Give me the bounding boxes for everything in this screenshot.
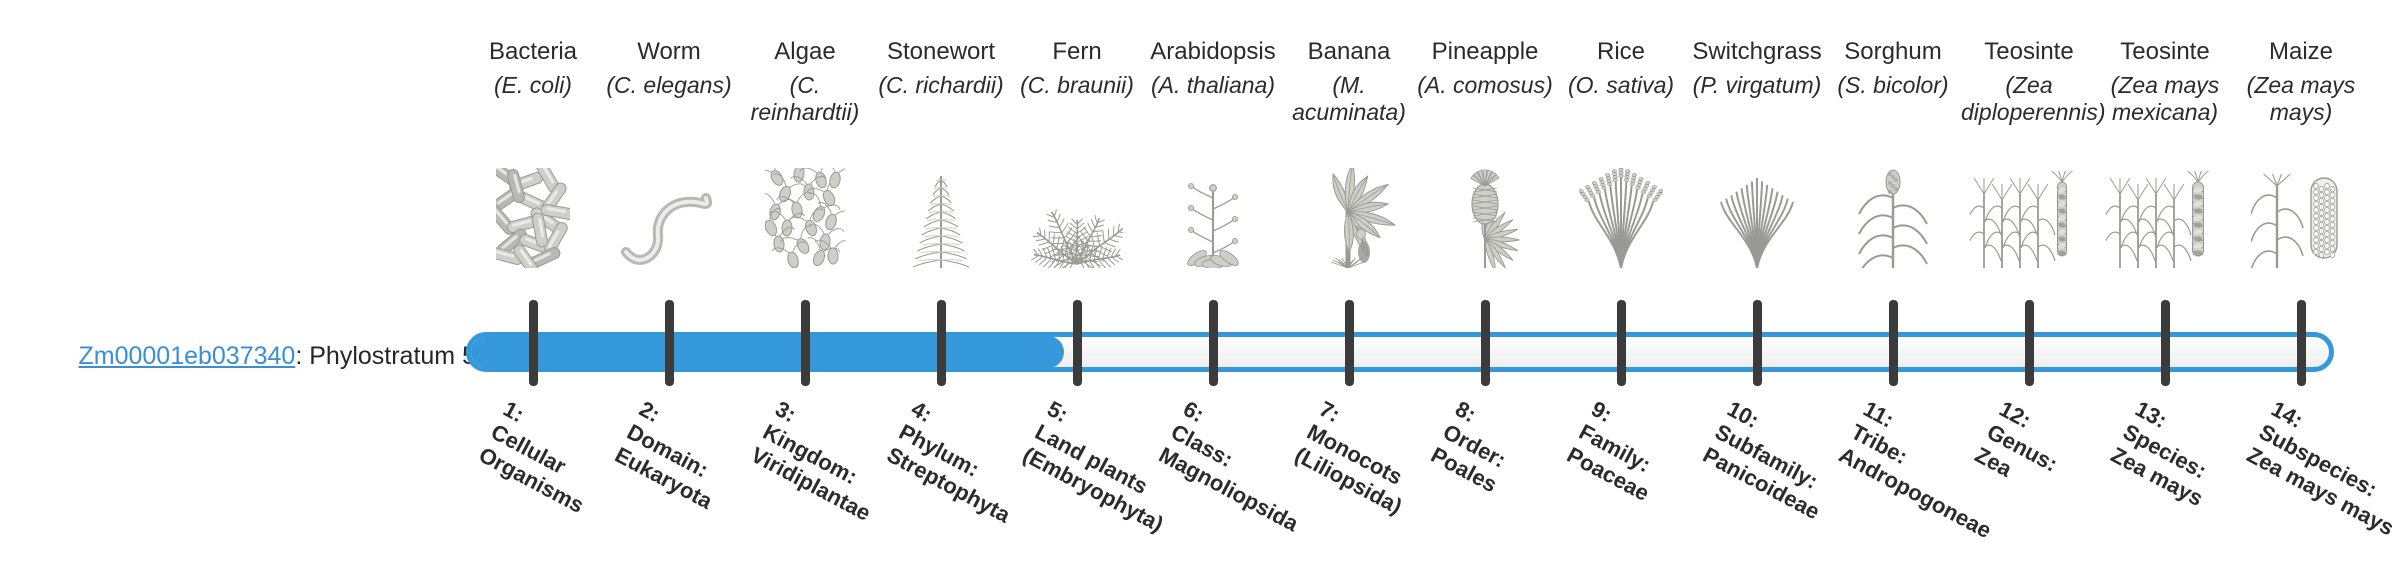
nematode-illustration (601, 168, 737, 268)
teosinte-diploperennis-illustration (1961, 168, 2097, 268)
fern-illustration (1009, 168, 1145, 268)
banana-illustration (1281, 168, 1417, 268)
stonewort-illustration (873, 168, 1009, 268)
arabidopsis-illustration (1145, 168, 1281, 268)
species-common-name: Sorghum (1825, 38, 1961, 66)
species-common-name: Fern (1009, 38, 1145, 66)
species-common-name: Bacteria (465, 38, 601, 66)
phylostratum-tick-9[interactable] (1617, 300, 1626, 386)
species-scientific-name: (M. acuminata) (1281, 72, 1417, 126)
phylostratum-tick-1[interactable] (529, 300, 538, 386)
species-common-name: Rice (1553, 38, 1689, 66)
phylostratum-tick-12[interactable] (2025, 300, 2034, 386)
species-scientific-name: (E. coli) (465, 72, 601, 99)
phylostratum-tick-4[interactable] (937, 300, 946, 386)
phylostratum-tick-5[interactable] (1073, 300, 1082, 386)
species-common-name: Algae (737, 38, 873, 66)
phylostratum-tick-8[interactable] (1481, 300, 1490, 386)
maize-illustration (2233, 168, 2369, 268)
species-scientific-name: (C. braunii) (1009, 72, 1145, 99)
species-scientific-name: (S. bicolor) (1825, 72, 1961, 99)
phylostratum-tick-14[interactable] (2297, 300, 2306, 386)
phylostratum-tick-11[interactable] (1889, 300, 1898, 386)
phylostratum-tick-10[interactable] (1753, 300, 1762, 386)
sorghum-illustration (1825, 168, 1961, 268)
species-scientific-name: (A. comosus) (1417, 72, 1553, 99)
species-scientific-name: (Zea mays mexicana) (2097, 72, 2233, 126)
phylostratum-tick-6[interactable] (1209, 300, 1218, 386)
pineapple-illustration (1417, 168, 1553, 268)
species-common-name: Banana (1281, 38, 1417, 66)
species-common-name: Teosinte (2097, 38, 2233, 66)
phylostratum-progress-bar[interactable] (466, 332, 2334, 372)
rice-illustration (1553, 168, 1689, 268)
phylostratum-tick-13[interactable] (2161, 300, 2170, 386)
species-common-name: Pineapple (1417, 38, 1553, 66)
gene-label-separator: : (295, 342, 309, 370)
phylostratum-value: Phylostratum 5 (309, 342, 476, 370)
species-common-name: Arabidopsis (1145, 38, 1281, 66)
bacteria-illustration (465, 168, 601, 268)
chlamydomonas-illustration (737, 168, 873, 268)
switchgrass-illustration (1689, 168, 1825, 268)
gene-phylostratum-label: Zm00001eb037340: Phylostratum 5 (36, 341, 476, 371)
species-scientific-name: (Zea diploperennis) (1961, 72, 2097, 126)
gene-id-link[interactable]: Zm00001eb037340 (78, 342, 295, 370)
species-common-name: Stonewort (873, 38, 1009, 66)
species-scientific-name: (Zea mays mays) (2233, 72, 2369, 126)
species-scientific-name: (P. virgatum) (1689, 72, 1825, 99)
species-common-name: Teosinte (1961, 38, 2097, 66)
species-common-name: Switchgrass (1689, 38, 1825, 66)
phylostratum-chart: Zm00001eb037340: Phylostratum 5 Bacteria… (0, 0, 2400, 580)
phylostratum-tick-3[interactable] (801, 300, 810, 386)
phylostratum-progress-fill (466, 336, 1064, 368)
species-scientific-name: (C. elegans) (601, 72, 737, 99)
species-scientific-name: (A. thaliana) (1145, 72, 1281, 99)
species-scientific-name: (O. sativa) (1553, 72, 1689, 99)
phylostratum-tick-7[interactable] (1345, 300, 1354, 386)
species-common-name: Maize (2233, 38, 2369, 66)
teosinte-mexicana-illustration (2097, 168, 2233, 268)
species-common-name: Worm (601, 38, 737, 66)
species-scientific-name: (C. reinhardtii) (737, 72, 873, 126)
species-scientific-name: (C. richardii) (873, 72, 1009, 99)
phylostratum-tick-2[interactable] (665, 300, 674, 386)
